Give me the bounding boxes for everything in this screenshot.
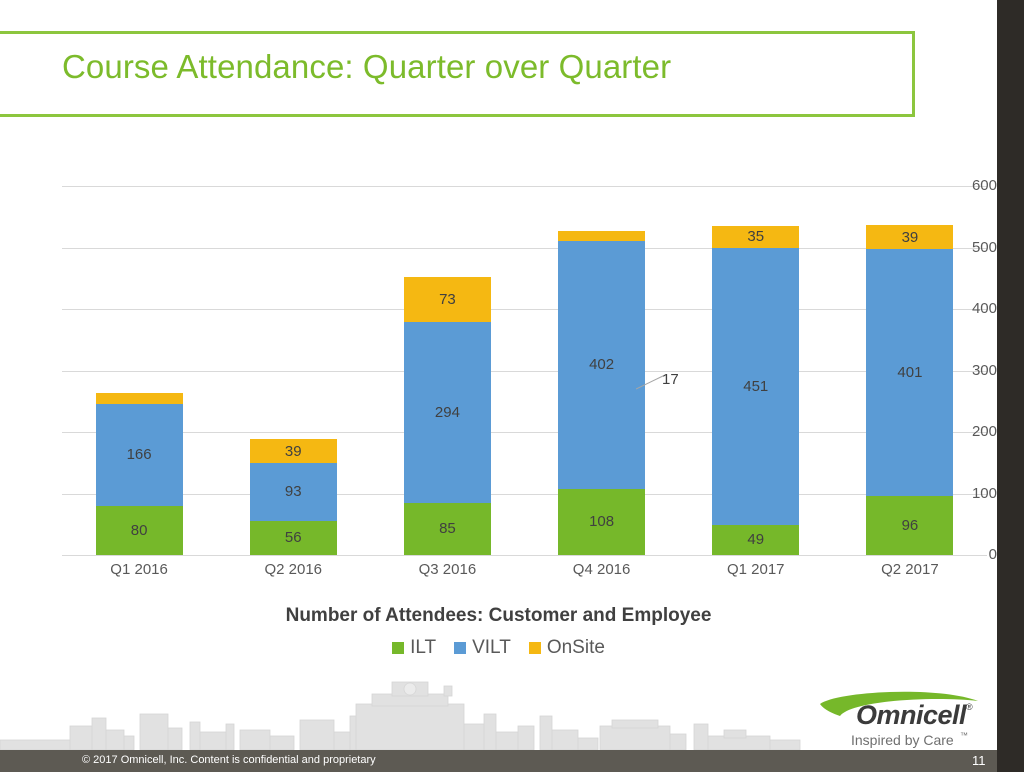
callout-label-onsite-q4-2016: 17: [662, 371, 679, 388]
bar-group-q2-2016[interactable]: 399356: [250, 439, 337, 555]
legend-item-onsite[interactable]: OnSite: [529, 637, 605, 659]
bar-value-label: 39: [902, 230, 919, 245]
skyline-decoration: [0, 680, 810, 750]
bar-value-label: 39: [285, 444, 302, 459]
x-tick-label-5: Q2 2017: [833, 561, 987, 578]
bar-value-label: 80: [131, 523, 148, 538]
bar-value-label: 93: [285, 484, 302, 499]
legend-label-onsite: OnSite: [547, 637, 605, 659]
gridline-0: [62, 555, 987, 556]
y-axis: [0, 186, 50, 555]
chart-legend: ILT VILT OnSite: [0, 637, 997, 659]
y-tick-label-200: 200: [953, 423, 997, 440]
y-tick-label-600: 600: [953, 177, 997, 194]
bar-value-label: 108: [589, 514, 614, 529]
bar-segment-vilt-q1-2016[interactable]: 166: [96, 404, 183, 506]
x-tick-label-1: Q2 2016: [216, 561, 370, 578]
bar-value-label: 402: [589, 357, 614, 372]
bar-segment-ilt-q1-2017[interactable]: 49: [712, 525, 799, 555]
legend-label-ilt: ILT: [410, 637, 436, 659]
gridline-400: [62, 309, 987, 310]
bar-segment-ilt-q4-2016[interactable]: 108: [558, 489, 645, 555]
x-tick-label-4: Q1 2017: [679, 561, 833, 578]
bar-segment-ilt-q2-2017[interactable]: 96: [866, 496, 953, 555]
bar-segment-vilt-q4-2016[interactable]: 402: [558, 241, 645, 488]
bar-value-label: 56: [285, 530, 302, 545]
bar-segment-onsite-q2-2016[interactable]: 39: [250, 439, 337, 463]
footer-bar: © 2017 Omnicell, Inc. Content is confide…: [0, 750, 1024, 772]
slide-canvas: Course Attendance: Quarter over Quarter …: [0, 0, 997, 772]
legend-swatch-vilt: [454, 642, 466, 654]
bar-segment-ilt-q2-2016[interactable]: 56: [250, 521, 337, 555]
bar-value-label: 73: [439, 292, 456, 307]
bar-group-q1-2017[interactable]: 3545149: [712, 226, 799, 555]
y-tick-label-300: 300: [953, 362, 997, 379]
bar-value-label: 35: [747, 229, 764, 244]
legend-swatch-onsite: [529, 642, 541, 654]
bar-value-label: 49: [747, 532, 764, 547]
gridline-300: [62, 371, 987, 372]
stacked-bar-chart: 1716680399356732948517402108354514939401…: [0, 150, 997, 670]
bar-group-q1-2016[interactable]: 1716680: [96, 393, 183, 555]
bar-group-q2-2017[interactable]: 3940196: [866, 225, 953, 555]
gridline-100: [62, 494, 987, 495]
footer-copyright: © 2017 Omnicell, Inc. Content is confide…: [82, 754, 376, 766]
gridline-200: [62, 432, 987, 433]
legend-label-vilt: VILT: [472, 637, 511, 659]
bar-segment-onsite-q4-2016[interactable]: 17: [558, 231, 645, 241]
bar-value-label: 96: [902, 518, 919, 533]
page-title: Course Attendance: Quarter over Quarter: [62, 48, 671, 86]
logo-trademark-mark: ™: [960, 731, 968, 740]
bar-value-label: 85: [439, 521, 456, 536]
bar-segment-onsite-q1-2017[interactable]: 35: [712, 226, 799, 248]
chart-axis-title: Number of Attendees: Customer and Employ…: [0, 605, 997, 627]
bar-segment-vilt-q3-2016[interactable]: 294: [404, 322, 491, 503]
bar-segment-vilt-q2-2016[interactable]: 93: [250, 463, 337, 520]
x-tick-label-3: Q4 2016: [525, 561, 679, 578]
legend-swatch-ilt: [392, 642, 404, 654]
bar-segment-onsite-q3-2016[interactable]: 73: [404, 277, 491, 322]
legend-item-ilt[interactable]: ILT: [392, 637, 436, 659]
logo-tagline: Inspired by Care: [851, 732, 954, 748]
logo-wordmark: Omnicell: [856, 700, 966, 731]
y-tick-label-500: 500: [953, 239, 997, 256]
bar-value-label: 166: [127, 447, 152, 462]
bar-segment-ilt-q3-2016[interactable]: 85: [404, 503, 491, 555]
bar-value-label: 451: [743, 379, 768, 394]
y-tick-label-100: 100: [953, 485, 997, 502]
bar-segment-onsite-q1-2016[interactable]: 17: [96, 393, 183, 403]
bar-group-q3-2016[interactable]: 7329485: [404, 277, 491, 555]
right-edge-strip: [997, 0, 1024, 772]
bar-group-q4-2016[interactable]: 17402108: [558, 231, 645, 555]
bar-segment-vilt-q2-2017[interactable]: 401: [866, 249, 953, 496]
y-tick-label-400: 400: [953, 300, 997, 317]
x-tick-label-0: Q1 2016: [62, 561, 216, 578]
bar-segment-ilt-q1-2016[interactable]: 80: [96, 506, 183, 555]
bar-segment-vilt-q1-2017[interactable]: 451: [712, 248, 799, 525]
gridline-500: [62, 248, 987, 249]
x-tick-label-2: Q3 2016: [370, 561, 524, 578]
gridline-600: [62, 186, 987, 187]
omnicell-logo: Omnicell ® Inspired by Care ™: [818, 690, 983, 752]
logo-registered-mark: ®: [966, 702, 973, 712]
legend-item-vilt[interactable]: VILT: [454, 637, 511, 659]
y-tick-label-0: 0: [953, 546, 997, 563]
bar-value-label: 401: [897, 365, 922, 380]
plot-area: 1716680399356732948517402108354514939401…: [62, 186, 987, 555]
bar-segment-onsite-q2-2017[interactable]: 39: [866, 225, 953, 249]
bar-value-label: 294: [435, 405, 460, 420]
page-number: 11: [972, 753, 986, 768]
